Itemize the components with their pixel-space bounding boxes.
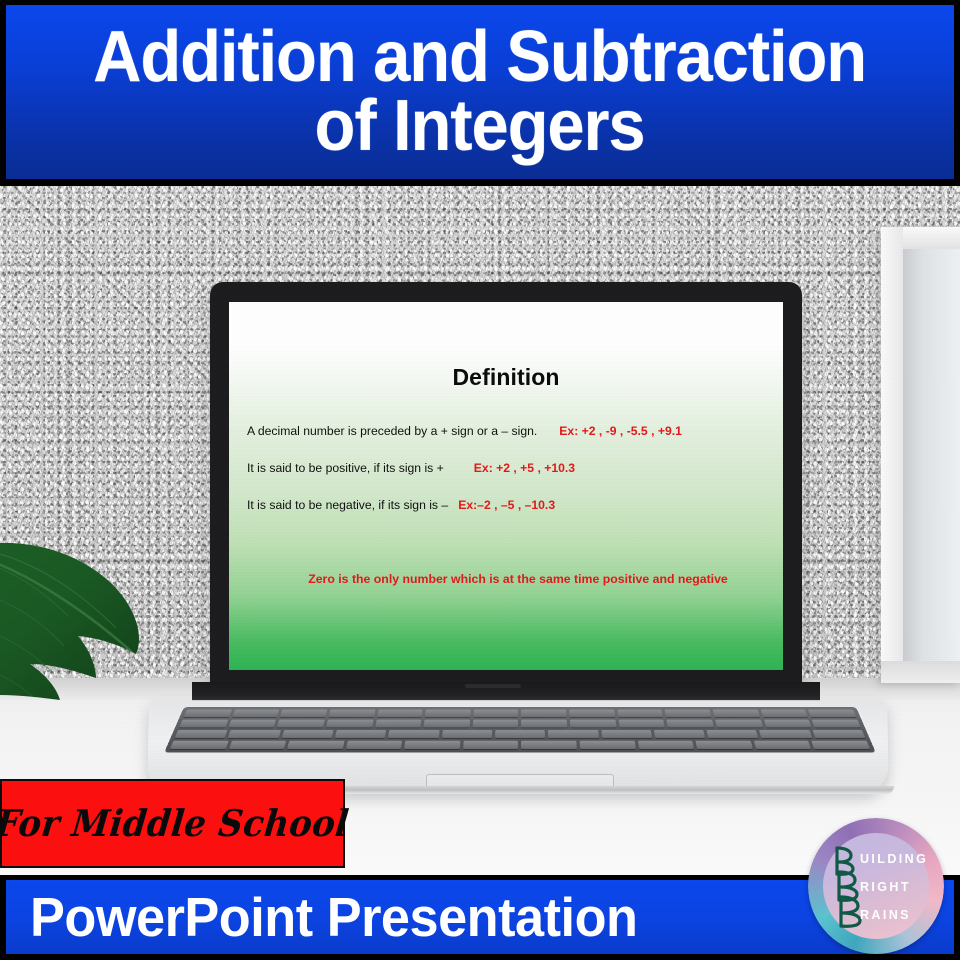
laptop-lid: Definition A decimal number is preceded … [210,282,802,686]
logo-word-brains: RAINS [860,908,911,922]
slide-line-3: It is said to be negative, if its sign i… [247,498,775,512]
key [548,730,599,738]
slide-line-2: It is said to be positive, if its sign i… [247,461,775,475]
key [335,730,387,738]
key [404,741,460,749]
logo-word-building: UILDING [860,852,928,866]
key [170,741,228,749]
laptop: Definition A decimal number is preceded … [130,282,920,792]
key [346,741,403,749]
key [759,730,812,738]
slide-line-1: A decimal number is preceded by a + sign… [247,424,775,438]
slide-line-1-example: Ex: +2 , -9 , -5.5 , +9.1 [559,424,682,438]
product-cover: Addition and Subtraction of Integers [0,0,960,960]
key [179,720,228,728]
brand-logo: UILDING RIGHT RAINS [808,818,944,954]
slide-line-2-example: Ex: +2 , +5 , +10.3 [474,461,575,475]
keyboard-row [175,720,865,728]
key [425,709,471,717]
slide-line-2-statement: It is said to be positive, if its sign i… [247,461,444,475]
key [707,730,759,738]
page-title: Addition and Subtraction of Integers [82,23,877,161]
key [638,741,695,749]
key [760,709,808,717]
key [654,730,706,738]
key [521,709,566,717]
laptop-keyboard [164,707,876,753]
key [665,709,712,717]
key [280,709,327,717]
slide-note: Zero is the only number which is at the … [229,572,783,586]
key [232,709,280,717]
key [569,709,615,717]
key [175,730,228,738]
key [812,720,861,728]
key [495,730,545,738]
key [388,730,439,738]
audience-badge-label: For Middle School [0,802,351,845]
key [377,709,423,717]
key [667,720,714,728]
key [696,741,753,749]
key [228,720,276,728]
keyboard-row [166,741,875,749]
key [442,730,493,738]
logo-wordmark: UILDING RIGHT RAINS [808,818,944,954]
key [808,709,856,717]
top-title-banner: Addition and Subtraction of Integers [0,0,960,186]
keyboard-row [180,709,861,717]
top-title-banner-fill: Addition and Subtraction of Integers [6,5,954,179]
key [601,730,652,738]
laptop-hinge-notch [465,684,521,688]
key [184,709,232,717]
key [754,741,812,749]
key [326,720,373,728]
key [281,730,333,738]
key [229,741,287,749]
key [617,709,663,717]
keyboard-row [170,730,869,738]
key [715,720,763,728]
key [424,720,470,728]
key [375,720,422,728]
key [277,720,325,728]
key [764,720,812,728]
key [463,741,518,749]
slide-line-3-statement: It is said to be negative, if its sign i… [247,498,448,512]
audience-badge: For Middle School [0,779,345,868]
product-type-label: PowerPoint Presentation [30,885,637,949]
key [618,720,665,728]
key [713,709,760,717]
key [522,741,577,749]
slide-screen: Definition A decimal number is preceded … [229,302,783,670]
slide-line-3-example: Ex:–2 , –5 , –10.3 [458,498,555,512]
slide-line-1-statement: A decimal number is preceded by a + sign… [247,424,537,438]
key [473,709,518,717]
key [522,720,568,728]
key [473,720,519,728]
slide-heading: Definition [229,364,783,391]
key [580,741,636,749]
logo-word-bright: RIGHT [860,880,911,894]
key [328,709,375,717]
key [812,730,865,738]
leaf-shape [0,543,139,700]
key [570,720,616,728]
key [287,741,344,749]
key [812,741,870,749]
key [228,730,281,738]
